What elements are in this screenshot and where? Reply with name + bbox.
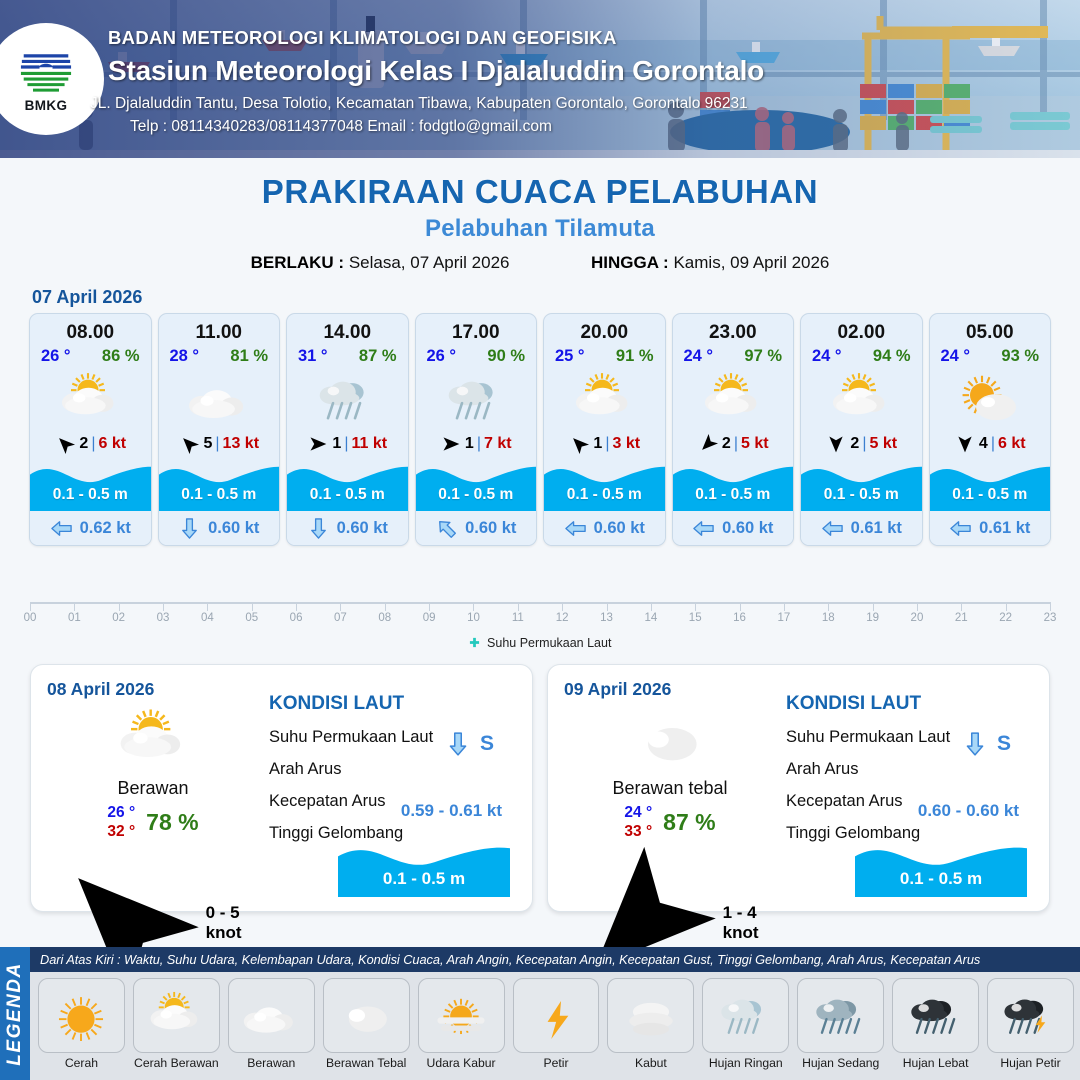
card-gust: 6 kt [998,435,1026,453]
valid-from-label: BERLAKU : [251,253,345,272]
axis-tick-label: 17 [778,612,791,624]
sea-wave: 0.1 - 0.5 m [855,839,1027,897]
card-humidity: 86 % [102,347,140,366]
daily-sea-conditions: KONDISI LAUT Suhu Permukaan Laut Arah Ar… [776,679,1033,899]
arrow-down-icon [825,434,847,454]
arrow-right-icon [307,434,329,454]
legend-icon-box [418,978,505,1053]
card-temp-humidity: 24 ° 97 % [673,344,794,366]
card-wind-speed: 2 [722,435,731,453]
card-temp-humidity: 25 ° 91 % [544,344,665,366]
card-wind: 4 | 6 kt [930,430,1051,458]
axis-tick-label: 08 [378,612,391,624]
card-wind-separator: | [91,435,95,453]
card-gust: 11 kt [351,435,387,453]
card-wind-separator: | [991,435,995,453]
hourly-forecast-row: 08.00 26 ° 86 % 2 | 6 kt 0.1 - 0.5 m [0,313,1080,546]
sea-wave-height: 0.1 - 0.5 m [338,869,510,889]
card-current: 0.60 kt [416,511,537,545]
card-humidity: 97 % [744,347,782,366]
card-current-speed: 0.60 kt [594,519,645,538]
card-humidity: 93 % [1001,347,1039,366]
card-temp-humidity: 31 ° 87 % [287,344,408,366]
axis-tick-label: 06 [290,612,303,624]
chart-legend-label: Suhu Permukaan Laut [487,636,611,650]
chart-legend: Suhu Permukaan Laut [30,636,1050,650]
axis-tick [74,602,75,611]
card-wind-speed: 1 [332,435,341,453]
legend-icon-box [133,978,220,1053]
axis-tick-label: 20 [911,612,924,624]
card-current: 0.61 kt [801,511,922,545]
card-wind: 2 | 5 kt [801,430,922,458]
arrow-left-icon [692,517,715,540]
axis-tick-label: 22 [999,612,1012,624]
card-wind-separator: | [862,435,866,453]
card-gust: 3 kt [612,435,640,453]
card-wave-height: 0.1 - 0.5 m [801,486,922,504]
legend-icon-box [797,978,884,1053]
legend-item: Petir [509,978,604,1070]
arrow-down-icon [178,517,201,540]
sea-current-direction: S [445,731,494,757]
daily-humidity: 87 % [663,809,715,836]
card-wave: 0.1 - 0.5 m [30,459,151,511]
daily-date: 08 April 2026 [47,679,259,700]
axis-tick-label: 16 [733,612,746,624]
legend-item-label: Berawan [224,1056,319,1070]
daily-left: 09 April 2026 Berawan tebal 24 ° 33 ° 87… [564,679,776,899]
card-time: 02.00 [801,314,922,344]
arrow-down-icon [307,517,330,540]
daily-date: 09 April 2026 [564,679,776,700]
arrow-up-left-icon [54,434,76,454]
legend-item-label: Hujan Lebat [888,1056,983,1070]
card-time: 17.00 [416,314,537,344]
bmkg-logo-text: BMKG [25,98,68,113]
sea-current-dir-label: S [997,732,1011,756]
legend-icon-box [228,978,315,1053]
daily-wind-range: 0 - 5 knot [206,903,259,943]
card-gust: 7 kt [484,435,512,453]
arrow-right-icon [440,434,462,454]
axis-tick [828,602,829,611]
legend-note: Dari Atas Kiri : Waktu, Suhu Udara, Kele… [30,947,1080,972]
forecast-card[interactable]: 02.00 24 ° 94 % 2 | 5 kt 0.1 - 0.5 m [800,313,923,546]
legend-section: LEGENDA Dari Atas Kiri : Waktu, Suhu Uda… [0,947,1080,1080]
legend-item-label: Kabut [603,1056,698,1070]
legend-item: Hujan Sedang [793,978,888,1070]
card-wind: 1 | 3 kt [544,430,665,458]
card-wave: 0.1 - 0.5 m [287,459,408,511]
valid-to: HINGGA : Kamis, 09 April 2026 [591,253,829,273]
forecast-card[interactable]: 20.00 25 ° 91 % 1 | 3 kt 0.1 - 0.5 m [543,313,666,546]
axis-tick-label: 23 [1044,612,1057,624]
sea-current-speed: 0.60 - 0.60 kt [918,801,1019,821]
card-wave-height: 0.1 - 0.5 m [416,486,537,504]
sea-current-dir-label: S [480,732,494,756]
daily-temp-humidity: 24 ° 33 ° 87 % [564,803,776,842]
card-wind-separator: | [215,435,219,453]
page-title: PRAKIRAAN CUACA PELABUHAN [0,173,1080,211]
card-humidity: 94 % [873,347,911,366]
card-time: 20.00 [544,314,665,344]
card-current: 0.60 kt [673,511,794,545]
sea-row-direction: Arah Arus [786,760,1033,779]
axis-tick-label: 03 [157,612,170,624]
card-wave: 0.1 - 0.5 m [930,459,1051,511]
card-wind-speed: 4 [979,435,988,453]
daily-weather-icon [47,704,259,776]
card-time: 08.00 [30,314,151,344]
card-current: 0.62 kt [30,511,151,545]
card-weather-icon [801,368,922,430]
legend-item-label: Berawan Tebal [319,1056,414,1070]
axis-tick [473,602,474,611]
axis-tick-label: 09 [423,612,436,624]
card-wave-height: 0.1 - 0.5 m [930,486,1051,504]
axis-tick-label: 07 [334,612,347,624]
daily-temps: 26 ° 32 ° [107,803,135,842]
daily-left: 08 April 2026 Berawan 26 ° 32 ° 78 % 0 -… [47,679,259,899]
legend-icon-box [38,978,125,1053]
card-temperature: 24 ° [684,347,714,366]
legend-icon-box [513,978,600,1053]
card-wind: 2 | 6 kt [30,430,151,458]
arrow-down-icon [954,434,976,454]
sea-title: KONDISI LAUT [269,693,516,715]
valid-from: BERLAKU : Selasa, 07 April 2026 [251,253,510,273]
card-gust: 5 kt [869,435,897,453]
card-temperature: 24 ° [941,347,971,366]
daily-humidity: 78 % [146,809,198,836]
valid-to-label: HINGGA : [591,253,669,272]
legend-side-bar: LEGENDA [0,947,30,1080]
axis-tick-label: 11 [512,612,524,624]
axis-tick-label: 02 [112,612,125,624]
card-gust: 13 kt [223,435,259,453]
arrow-down-icon [962,731,988,757]
axis-tick [296,602,297,611]
sea-title: KONDISI LAUT [786,693,1033,715]
card-wave: 0.1 - 0.5 m [673,459,794,511]
axis-tick-label: 12 [556,612,569,624]
legend-item-label: Petir [509,1056,604,1070]
legend-item-label: Cerah Berawan [129,1056,224,1070]
card-current-speed: 0.60 kt [722,519,773,538]
axis-tick-label: 04 [201,612,214,624]
card-gust: 5 kt [741,435,769,453]
valid-to-value: Kamis, 09 April 2026 [673,253,829,272]
daily-wind-range: 1 - 4 knot [723,903,776,943]
card-gust: 6 kt [98,435,126,453]
arrow-left-icon [949,517,972,540]
card-temp-humidity: 26 ° 90 % [416,344,537,366]
card-time: 11.00 [159,314,280,344]
card-humidity: 91 % [616,347,654,366]
axis-tick [207,602,208,611]
legend-icon-box [987,978,1074,1053]
card-current-speed: 0.62 kt [80,519,131,538]
axis-tick-label: 21 [955,612,968,624]
legend-side-label: LEGENDA [4,962,26,1065]
legend-body: Dari Atas Kiri : Waktu, Suhu Udara, Kele… [30,947,1080,1080]
axis-tick [385,602,386,611]
daily-temp-max: 33 ° [624,822,652,841]
card-temperature: 31 ° [298,347,328,366]
cross-marker-icon [469,637,480,648]
validity-row: BERLAKU : Selasa, 07 April 2026 HINGGA :… [0,253,1080,273]
card-time: 05.00 [930,314,1051,344]
axis-tick [784,602,785,611]
header-text-block: BADAN METEOROLOGI KLIMATOLOGI DAN GEOFIS… [108,26,908,138]
agency-name: BADAN METEOROLOGI KLIMATOLOGI DAN GEOFIS… [108,26,908,51]
axis-tick [961,602,962,611]
axis-tick-label: 19 [866,612,879,624]
card-wave: 0.1 - 0.5 m [159,459,280,511]
arrow-left-icon [821,517,844,540]
port-name: Pelabuhan Tilamuta [0,215,1080,243]
legend-item: Cerah Berawan [129,978,224,1070]
forecast-card[interactable]: 05.00 24 ° 93 % 4 | 6 kt 0.1 - 0.5 m 0.6… [929,313,1052,546]
daily-forecast-row: 08 April 2026 Berawan 26 ° 32 ° 78 % 0 -… [0,664,1080,912]
card-wave-height: 0.1 - 0.5 m [287,486,408,504]
arrow-left-icon [564,517,587,540]
sea-current-speed: 0.59 - 0.61 kt [401,801,502,821]
daily-temp-max: 32 ° [107,822,135,841]
axis-tick [340,602,341,611]
card-temperature: 28 ° [170,347,200,366]
card-wave: 0.1 - 0.5 m [801,459,922,511]
daily-temps: 24 ° 33 ° [624,803,652,842]
legend-icon-box [607,978,694,1053]
sea-current-direction: S [962,731,1011,757]
forecast-card[interactable]: 23.00 24 ° 97 % 2 | 5 kt 0.1 - 0.5 m [672,313,795,546]
axis-tick [607,602,608,611]
forecast-card[interactable]: 08.00 26 ° 86 % 2 | 6 kt 0.1 - 0.5 m [29,313,152,546]
daily-temp-min: 24 ° [624,803,652,822]
card-wind-speed: 2 [850,435,859,453]
daily-temp-min: 26 ° [107,803,135,822]
page-header: BMKG BADAN METEOROLOGI KLIMATOLOGI DAN G… [0,0,1080,158]
axis-tick [30,602,31,611]
daily-forecast-panel[interactable]: 09 April 2026 Berawan tebal 24 ° 33 ° 87… [547,664,1050,912]
chart-x-axis: 0001020304050607080910111213141516171819… [30,588,1050,628]
daily-weather-icon [564,704,776,776]
axis-tick [651,602,652,611]
card-current-speed: 0.61 kt [851,519,902,538]
card-humidity: 87 % [359,347,397,366]
card-humidity: 90 % [487,347,525,366]
card-current: 0.60 kt [544,511,665,545]
daily-forecast-panel[interactable]: 08 April 2026 Berawan 26 ° 32 ° 78 % 0 -… [30,664,533,912]
legend-item: Hujan Petir [983,978,1078,1070]
card-wave: 0.1 - 0.5 m [544,459,665,511]
axis-tick-label: 05 [245,612,258,624]
legend-item: Berawan Tebal [319,978,414,1070]
card-wind-speed: 2 [79,435,88,453]
axis-tick-label: 15 [689,612,702,624]
sea-row-direction: Arah Arus [269,760,516,779]
card-temperature: 25 ° [555,347,585,366]
card-wave-height: 0.1 - 0.5 m [159,486,280,504]
legend-item: Kabut [603,978,698,1070]
daily-condition: Berawan tebal [564,778,776,799]
card-current-speed: 0.60 kt [465,519,516,538]
arrow-down-icon [445,731,471,757]
card-current: 0.60 kt [159,511,280,545]
card-wind-separator: | [734,435,738,453]
card-current-speed: 0.61 kt [979,519,1030,538]
daily-condition: Berawan [47,778,259,799]
card-current: 0.61 kt [930,511,1051,545]
card-temperature: 26 ° [41,347,71,366]
card-weather-icon [30,368,151,430]
card-temp-humidity: 28 ° 81 % [159,344,280,366]
card-wind: 1 | 7 kt [416,430,537,458]
legend-item: Udara Kabur [414,978,509,1070]
page-title-block: PRAKIRAAN CUACA PELABUHAN Pelabuhan Tila… [0,158,1080,273]
card-weather-icon [416,368,537,430]
daily-sea-conditions: KONDISI LAUT Suhu Permukaan Laut Arah Ar… [259,679,516,899]
forecast-date-label: 07 April 2026 [32,287,1080,308]
axis-tick-label: 01 [68,612,81,624]
daily-temp-humidity: 26 ° 32 ° 78 % [47,803,259,842]
card-temp-humidity: 24 ° 94 % [801,344,922,366]
station-contact: Telp : 08114340283/08114377048 Email : f… [130,115,908,138]
axis-tick [163,602,164,611]
sst-chart: 0001020304050607080910111213141516171819… [0,588,1080,650]
card-weather-icon [287,368,408,430]
card-wind-separator: | [344,435,348,453]
card-weather-icon [159,368,280,430]
legend-item: Hujan Ringan [698,978,793,1070]
station-address: JL. Djalaluddin Tantu, Desa Tolotio, Kec… [90,92,908,115]
axis-tick [873,602,874,611]
card-wind-speed: 1 [465,435,474,453]
card-wind-separator: | [477,435,481,453]
arrow-up-left-icon [568,434,590,454]
legend-icon-box [323,978,410,1053]
axis-line [30,602,1050,604]
axis-tick-label: 13 [600,612,613,624]
sea-wave: 0.1 - 0.5 m [338,839,510,897]
legend-icon-box [702,978,789,1053]
axis-tick [1006,602,1007,611]
card-wind: 1 | 11 kt [287,430,408,458]
card-time: 23.00 [673,314,794,344]
legend-item-label: Udara Kabur [414,1056,509,1070]
card-temperature: 24 ° [812,347,842,366]
sea-wave-height: 0.1 - 0.5 m [855,869,1027,889]
axis-tick [252,602,253,611]
axis-tick [119,602,120,611]
axis-tick [1050,602,1051,611]
card-temp-humidity: 24 ° 93 % [930,344,1051,366]
station-name: Stasiun Meteorologi Kelas I Djalaluddin … [108,52,908,90]
card-wind: 2 | 5 kt [673,430,794,458]
axis-tick [917,602,918,611]
card-wave-height: 0.1 - 0.5 m [673,486,794,504]
card-wave-height: 0.1 - 0.5 m [544,486,665,504]
axis-tick [562,602,563,611]
axis-tick-label: 18 [822,612,835,624]
card-weather-icon [544,368,665,430]
axis-tick-label: 14 [644,612,657,624]
legend-item: Cerah [34,978,129,1070]
axis-tick [518,602,519,611]
card-temperature: 26 ° [427,347,457,366]
forecast-card[interactable]: 11.00 28 ° 81 % 5 | 13 kt 0.1 - 0.5 m [158,313,281,546]
card-wave: 0.1 - 0.5 m [416,459,537,511]
legend-item-label: Hujan Petir [983,1056,1078,1070]
forecast-card[interactable]: 14.00 31 ° 87 % 1 | 11 kt 0.1 - 0.5 m [286,313,409,546]
arrow-down-left-icon [697,434,719,454]
card-humidity: 81 % [230,347,268,366]
card-wind-speed: 1 [593,435,602,453]
card-weather-icon [673,368,794,430]
card-wave-height: 0.1 - 0.5 m [30,486,151,504]
card-current-speed: 0.60 kt [208,519,259,538]
card-temp-humidity: 26 ° 86 % [30,344,151,366]
arrow-up-left-icon [178,434,200,454]
axis-tick [429,602,430,611]
card-current-speed: 0.60 kt [337,519,388,538]
forecast-card[interactable]: 17.00 26 ° 90 % 1 | 7 kt 0.1 - 0.5 m [415,313,538,546]
legend-item-label: Cerah [34,1056,129,1070]
legend-item: Berawan [224,978,319,1070]
legend-item-label: Hujan Sedang [793,1056,888,1070]
axis-tick [740,602,741,611]
card-wind-separator: | [605,435,609,453]
axis-tick-label: 00 [24,612,37,624]
bmkg-emblem-icon [18,45,74,97]
axis-tick [695,602,696,611]
legend-icon-box [892,978,979,1053]
valid-from-value: Selasa, 07 April 2026 [349,253,510,272]
card-current: 0.60 kt [287,511,408,545]
card-weather-icon [930,368,1051,430]
legend-item-label: Hujan Ringan [698,1056,793,1070]
legend-item: Hujan Lebat [888,978,983,1070]
card-wind-speed: 5 [203,435,212,453]
arrow-left-icon [50,517,73,540]
axis-tick-label: 10 [467,612,480,624]
legend-items: Cerah Cerah Berawan Berawan Berawan Teba… [30,972,1080,1070]
card-wind: 5 | 13 kt [159,430,280,458]
arrow-down-left-icon [435,517,458,540]
card-time: 14.00 [287,314,408,344]
